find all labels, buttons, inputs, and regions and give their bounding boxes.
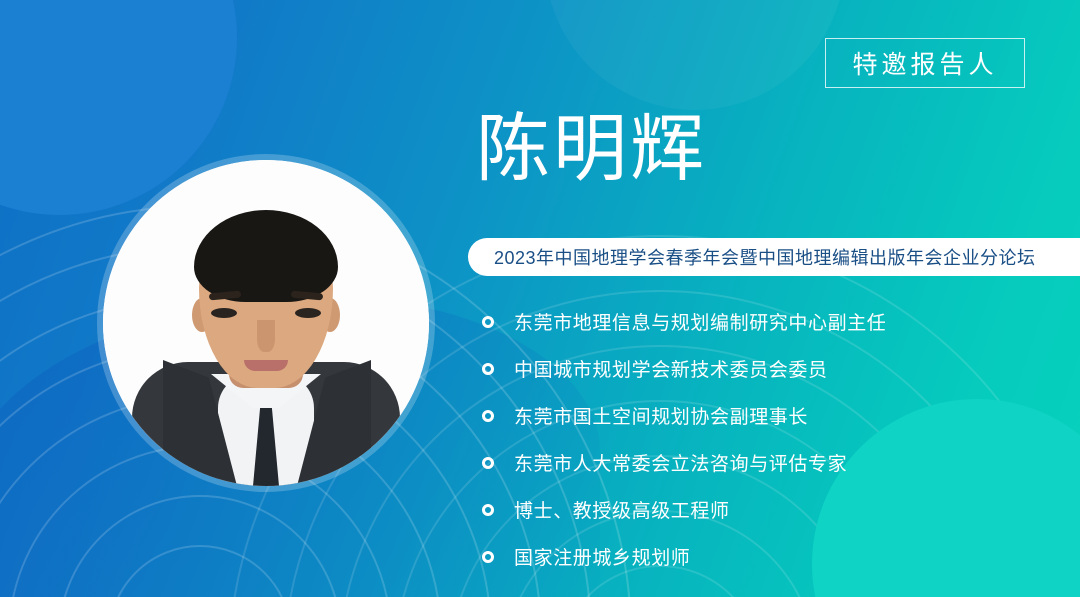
list-item: 东莞市国土空间规划协会副理事长	[482, 402, 886, 429]
event-banner: 2023年中国地理学会春季年会暨中国地理编辑出版年会企业分论坛	[468, 238, 1080, 276]
photo-eye-left	[211, 308, 237, 318]
credential-text: 中国城市规划学会新技术委员会委员	[514, 355, 828, 382]
event-banner-text: 2023年中国地理学会春季年会暨中国地理编辑出版年会企业分论坛	[468, 244, 1036, 270]
list-item: 东莞市人大常委会立法咨询与评估专家	[482, 449, 886, 476]
ring-bullet-icon	[482, 410, 494, 422]
photo-mouth	[244, 360, 288, 371]
speaker-photo	[103, 160, 429, 486]
list-item: 中国城市规划学会新技术委员会委员	[482, 355, 886, 382]
list-item: 国家注册城乡规划师	[482, 543, 886, 570]
ring-bullet-icon	[482, 551, 494, 563]
ring-bullet-icon	[482, 363, 494, 375]
speaker-name: 陈明辉	[476, 112, 707, 186]
credential-text: 博士、教授级高级工程师	[514, 496, 730, 523]
credential-text: 国家注册城乡规划师	[514, 543, 690, 570]
credential-text: 东莞市人大常委会立法咨询与评估专家	[514, 449, 847, 476]
decorative-circle-top-center	[545, 0, 845, 110]
speaker-portrait	[103, 160, 429, 486]
ring-bullet-icon	[482, 457, 494, 469]
list-item: 东莞市地理信息与规划编制研究中心副主任	[482, 308, 886, 335]
invited-speaker-badge-label: 特邀报告人	[852, 45, 997, 81]
credential-text: 东莞市地理信息与规划编制研究中心副主任	[514, 308, 886, 335]
ring-bullet-icon	[482, 316, 494, 328]
list-item: 博士、教授级高级工程师	[482, 496, 886, 523]
credentials-list: 东莞市地理信息与规划编制研究中心副主任 中国城市规划学会新技术委员会委员 东莞市…	[482, 308, 886, 570]
photo-nose	[257, 320, 275, 352]
photo-eye-right	[295, 308, 321, 318]
credential-text: 东莞市国土空间规划协会副理事长	[514, 402, 808, 429]
speaker-poster: 特邀报告人 陈明辉 2023年中国地理学会春季年会暨中国地理编辑出版	[0, 0, 1080, 597]
invited-speaker-badge: 特邀报告人	[825, 38, 1025, 88]
ring-bullet-icon	[482, 504, 494, 516]
